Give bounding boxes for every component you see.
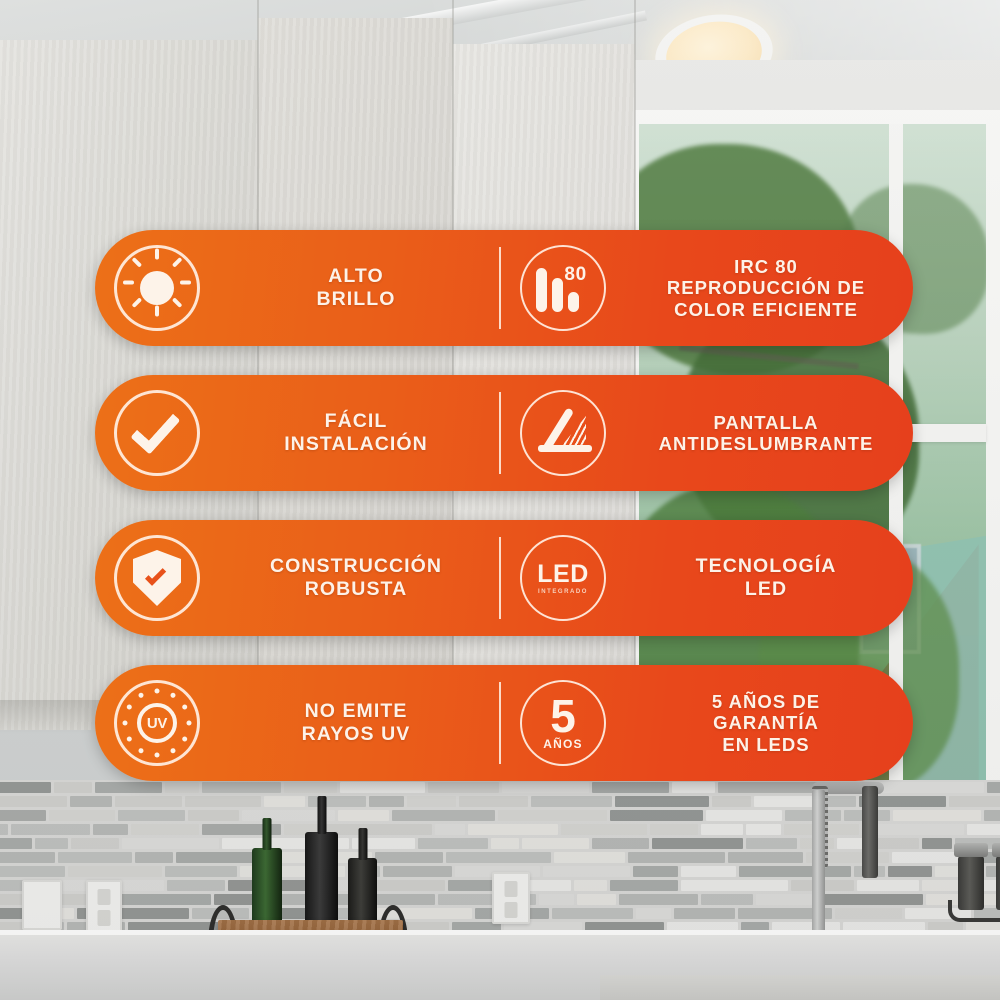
feature-construccion-robusta[interactable]: CONSTRUCCIÓN ROBUSTA (95, 520, 499, 636)
feature-label-tecnologia-led: TECNOLOGÍA LED (625, 555, 913, 600)
sun-dot (155, 753, 160, 758)
label-line: ROBUSTA (219, 578, 493, 601)
sun-dot (155, 689, 160, 694)
label-line: BRILLO (219, 288, 493, 311)
shield-checkmark (145, 565, 166, 586)
label-line: IRC 80 (625, 256, 907, 277)
sun-ray (155, 249, 159, 260)
product-feature-infographic: ALTO BRILLO 80 IRC (0, 0, 1000, 1000)
sun-ray (180, 281, 191, 285)
sun-dot (170, 692, 177, 699)
label-line: ANTIDESLUMBRANTE (625, 433, 907, 454)
warranty-5-years-icon: 5 AÑOS (520, 680, 606, 766)
feature-label-irc-80: IRC 80 REPRODUCCIÓN DE COLOR EFICIENTE (625, 256, 913, 320)
feature-facil-instalacion[interactable]: FÁCIL INSTALACIÓN (95, 375, 499, 491)
feature-label-no-emite-uv: NO EMITE RAYOS UV (219, 700, 499, 745)
icon-container (95, 390, 219, 476)
sun-dot (187, 721, 192, 726)
label-line: REPRODUCCIÓN DE (625, 277, 907, 298)
label-line: FÁCIL (219, 410, 493, 433)
sun-ray (123, 281, 134, 285)
bar (568, 292, 579, 312)
icon-container (501, 390, 625, 476)
feature-garantia-5-anos[interactable]: 5 AÑOS 5 AÑOS DE GARANTÍA EN LEDS (501, 665, 913, 781)
sun-dot (138, 747, 145, 754)
sun-icon (114, 245, 200, 331)
sun-dot (138, 692, 145, 699)
cri-value-text: 80 (564, 264, 587, 286)
feature-label-pantalla-antideslumbrante: PANTALLA ANTIDESLUMBRANTE (625, 412, 913, 455)
shield-glyph (133, 550, 181, 606)
label-line: RAYOS UV (219, 723, 493, 746)
feature-badge-row-4[interactable]: UV NO (95, 665, 913, 781)
sun-dot (123, 721, 128, 726)
icon-container: 5 AÑOS (501, 680, 625, 766)
icon-container: UV (95, 680, 219, 766)
sun-dot (181, 704, 188, 711)
feature-label-facil-instalacion: FÁCIL INSTALACIÓN (219, 410, 499, 455)
sun-ray (155, 306, 159, 317)
sun-dot (126, 736, 133, 743)
icon-container (95, 245, 219, 331)
label-line: 5 AÑOS DE (625, 691, 907, 712)
label-line: ALTO (219, 265, 493, 288)
label-line: LED (625, 578, 907, 601)
icon-container: 80 (501, 245, 625, 331)
cri-bars-icon: 80 (520, 245, 606, 331)
led-icon-text: LED (537, 562, 589, 587)
uv-text-ring: UV (137, 703, 177, 743)
label-line: COLOR EFICIENTE (625, 299, 907, 320)
checkmark-glyph (130, 403, 180, 455)
feature-badge-row-3[interactable]: CONSTRUCCIÓN ROBUSTA LED INTEGRADO TECNO… (95, 520, 913, 636)
warranty-unit-text: AÑOS (543, 737, 582, 751)
feature-irc-80[interactable]: 80 IRC 80 REPRODUCCIÓN DE COLOR EFICIENT… (501, 230, 913, 346)
shield-check-icon (114, 535, 200, 621)
label-line: EN LEDS (625, 734, 907, 755)
sun-dot (126, 704, 133, 711)
sun-ray (132, 257, 143, 268)
label-line: GARANTÍA (625, 712, 907, 733)
icon-container: LED INTEGRADO (501, 535, 625, 621)
sun-ray (172, 257, 183, 268)
feature-tecnologia-led[interactable]: LED INTEGRADO TECNOLOGÍA LED (501, 520, 913, 636)
led-badge-icon: LED INTEGRADO (520, 535, 606, 621)
bar (536, 268, 547, 312)
led-icon-subtext: INTEGRADO (538, 589, 588, 595)
feature-label-alto-brillo: ALTO BRILLO (219, 265, 499, 310)
feature-badge-list: ALTO BRILLO 80 IRC (0, 0, 1000, 1000)
feature-alto-brillo[interactable]: ALTO BRILLO (95, 230, 499, 346)
feature-pantalla-antideslumbrante[interactable]: PANTALLA ANTIDESLUMBRANTE (501, 375, 913, 491)
sun-core (140, 271, 174, 305)
bar (552, 278, 563, 312)
feature-badge-row-1[interactable]: ALTO BRILLO 80 IRC (95, 230, 913, 346)
feature-label-construccion-robusta: CONSTRUCCIÓN ROBUSTA (219, 555, 499, 600)
feature-badge-row-2[interactable]: FÁCIL INSTALACIÓN PANTALLA ANTIDESLUMBRA… (95, 375, 913, 491)
uv-sun-icon: UV (114, 680, 200, 766)
check-circle-icon (114, 390, 200, 476)
warranty-number: 5 (550, 695, 576, 737)
feature-no-emite-uv[interactable]: UV NO (95, 665, 499, 781)
sun-ray (132, 297, 143, 308)
feature-label-garantia: 5 AÑOS DE GARANTÍA EN LEDS (625, 691, 913, 755)
sun-dot (181, 736, 188, 743)
label-line: TECNOLOGÍA (625, 555, 907, 578)
label-line: NO EMITE (219, 700, 493, 723)
sun-ray (172, 297, 183, 308)
sun-dot (170, 747, 177, 754)
label-line: INSTALACIÓN (219, 433, 493, 456)
label-line: CONSTRUCCIÓN (219, 555, 493, 578)
antiglare-icon (520, 390, 606, 476)
label-line: PANTALLA (625, 412, 907, 433)
icon-container (95, 535, 219, 621)
